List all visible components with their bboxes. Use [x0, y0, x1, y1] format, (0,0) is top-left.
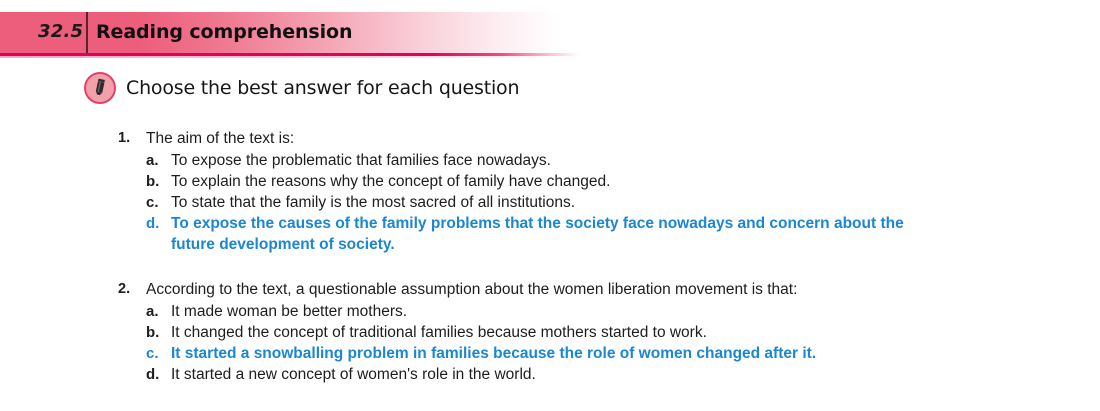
option-text: It changed the concept of traditional fa… — [171, 322, 1078, 343]
option-text: It started a new concept of women's role… — [171, 364, 1078, 385]
option-item-c[interactable]: c. To state that the family is the most … — [146, 192, 1078, 213]
question-line: 1. The aim of the text is: — [118, 128, 1078, 149]
option-item-c-selected[interactable]: c. It started a snowballing problem in f… — [146, 343, 1078, 364]
option-text: To expose the causes of the family probl… — [171, 213, 1078, 255]
option-text: To state that the family is the most sac… — [171, 192, 1078, 213]
section-number: 32.5 — [38, 21, 84, 43]
instruction-text: Choose the best answer for each question — [126, 75, 519, 101]
question-text: According to the text, a questionable as… — [146, 279, 1078, 300]
question-block: 2. According to the text, a questionable… — [118, 279, 1078, 385]
option-text: To explain the reasons why the concept o… — [171, 171, 1078, 192]
option-marker: d. — [146, 213, 171, 234]
option-list: a. It made woman be better mothers. b. I… — [118, 301, 1078, 385]
option-text-line-2: future development of society. — [171, 234, 1078, 255]
header-divider — [86, 12, 88, 53]
option-item-d-selected[interactable]: d. To expose the causes of the family pr… — [146, 213, 1078, 255]
option-marker: d. — [146, 364, 171, 385]
question-marker: 2. — [118, 279, 146, 300]
option-marker: c. — [146, 192, 171, 213]
option-text: To expose the problematic that families … — [171, 150, 1078, 171]
question-list: 1. The aim of the text is: a. To expose … — [118, 128, 1078, 385]
option-item-b[interactable]: b. It changed the concept of traditional… — [146, 322, 1078, 343]
option-marker: b. — [146, 171, 171, 192]
option-item-a[interactable]: a. It made woman be better mothers. — [146, 301, 1078, 322]
option-marker: a. — [146, 301, 171, 322]
option-text: It made woman be better mothers. — [171, 301, 1078, 322]
pencil-icon — [84, 72, 116, 104]
question-text: The aim of the text is: — [146, 128, 1078, 149]
question-line: 2. According to the text, a questionable… — [118, 279, 1078, 300]
page-title: Reading comprehension — [96, 20, 352, 44]
option-text-line-1: To expose the causes of the family probl… — [171, 213, 1078, 234]
question-block: 1. The aim of the text is: a. To expose … — [118, 128, 1078, 255]
option-item-d[interactable]: d. It started a new concept of women's r… — [146, 364, 1078, 385]
option-text: It started a snowballing problem in fami… — [171, 343, 1078, 364]
question-marker: 1. — [118, 128, 146, 149]
option-item-a[interactable]: a. To expose the problematic that famili… — [146, 150, 1078, 171]
option-list: a. To expose the problematic that famili… — [118, 150, 1078, 255]
option-marker: c. — [146, 343, 171, 364]
option-marker: b. — [146, 322, 171, 343]
option-marker: a. — [146, 150, 171, 171]
instruction-row: Choose the best answer for each question — [84, 72, 519, 104]
header-underline-soft — [0, 56, 1100, 58]
option-item-b[interactable]: b. To explain the reasons why the concep… — [146, 171, 1078, 192]
